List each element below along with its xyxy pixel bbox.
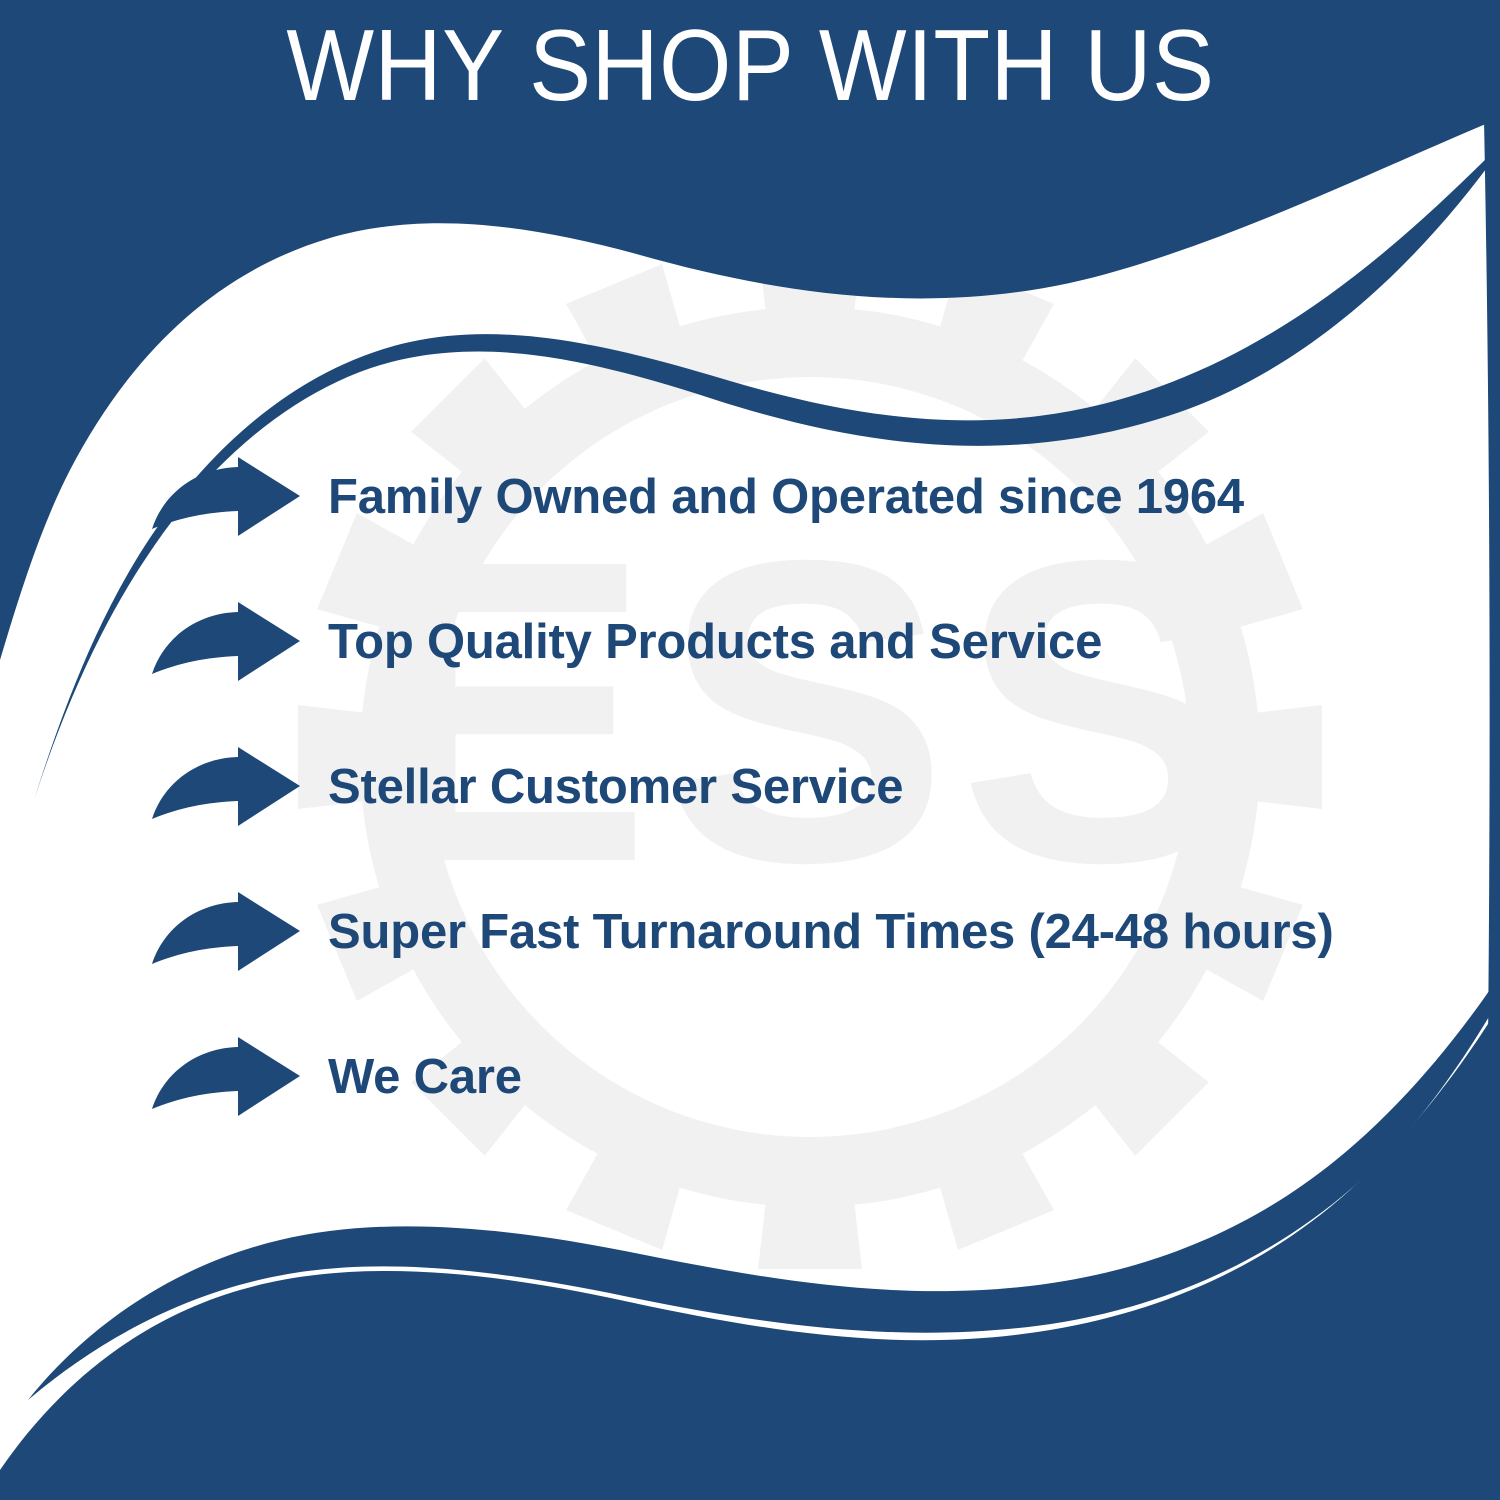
benefit-label: Super Fast Turnaround Times (24-48 hours… xyxy=(328,907,1334,958)
benefit-item: Family Owned and Operated since 1964 xyxy=(0,425,1500,570)
benefits-list: Family Owned and Operated since 1964 Top… xyxy=(0,425,1500,1150)
benefit-label: Top Quality Products and Service xyxy=(328,617,1102,668)
benefit-label: We Care xyxy=(328,1052,522,1103)
benefit-item: We Care xyxy=(0,1005,1500,1150)
header-band: WHY SHOP WITH US xyxy=(0,0,1500,150)
curved-arrow-right-icon xyxy=(150,456,302,540)
curved-arrow-right-icon xyxy=(150,746,302,830)
benefit-item: Super Fast Turnaround Times (24-48 hours… xyxy=(0,860,1500,1005)
benefit-item: Stellar Customer Service xyxy=(0,715,1500,860)
benefit-item: Top Quality Products and Service xyxy=(0,570,1500,715)
why-shop-with-us-poster: ESS WHY SHOP WITH US xyxy=(0,0,1500,1500)
benefit-label: Family Owned and Operated since 1964 xyxy=(328,472,1244,523)
benefit-label: Stellar Customer Service xyxy=(328,762,903,813)
curved-arrow-right-icon xyxy=(150,601,302,685)
page-title: WHY SHOP WITH US xyxy=(286,0,1214,117)
curved-arrow-right-icon xyxy=(150,891,302,975)
curved-arrow-right-icon xyxy=(150,1036,302,1120)
